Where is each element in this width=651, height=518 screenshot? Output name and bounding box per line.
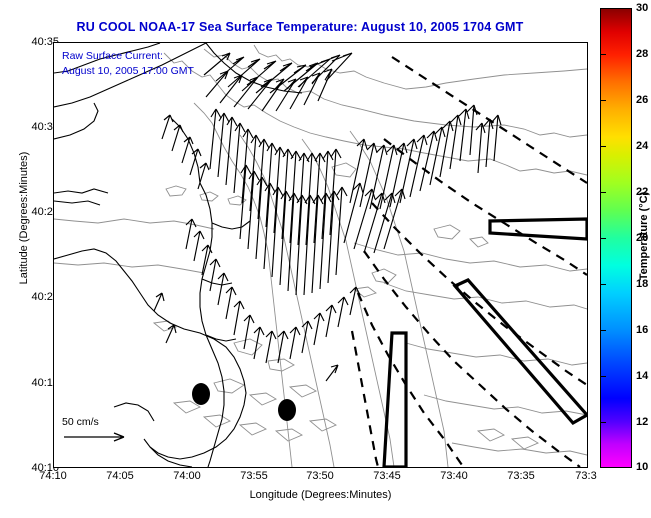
xtick-label: 73:55 — [240, 470, 268, 482]
xtick-label: 73:3 — [575, 470, 596, 482]
y-axis-label: Latitude (Degrees:Minutes) — [18, 108, 30, 328]
station-marker — [192, 383, 210, 405]
scale-bar: 50 cm/s — [62, 416, 132, 449]
colorbar-tick — [600, 422, 606, 423]
annotation-line-1: Raw Surface Current: — [62, 49, 194, 64]
colorbar-tick — [600, 330, 606, 331]
colorbar-label: Temperature (°C) — [638, 166, 650, 306]
colorbar-tick-label: 16 — [636, 324, 648, 336]
xtick-label: 73:50 — [306, 470, 334, 482]
xtick-label: 73:40 — [440, 470, 468, 482]
xtick-label: 74:00 — [173, 470, 201, 482]
colorbar-tick-label: 24 — [636, 140, 648, 152]
map-plot-area[interactable]: Raw Surface Current: August 10, 2005 17:… — [53, 42, 588, 468]
colorbar-tick-label: 28 — [636, 48, 648, 60]
scale-bar-arrow-icon — [62, 430, 132, 444]
station-marker — [278, 399, 296, 421]
colorbar-tick — [600, 376, 606, 377]
sst-figure: RU COOL NOAA-17 Sea Surface Temperature:… — [0, 0, 651, 518]
colorbar-tick — [600, 146, 606, 147]
colorbar-tick — [600, 192, 606, 193]
colorbar-tick-label: 30 — [636, 2, 648, 14]
sst-contours — [54, 45, 587, 467]
colorbar-tick-label: 26 — [636, 94, 648, 106]
colorbar-tick — [600, 284, 606, 285]
colorbar-tick-label: 12 — [636, 416, 648, 428]
colorbar-tick — [600, 238, 606, 239]
xtick-label: 74:10 — [39, 470, 67, 482]
map-graphics — [54, 43, 587, 467]
current-vectors — [154, 53, 501, 381]
colorbar-tick — [600, 8, 606, 9]
annotation-line-2: August 10, 2005 17:00 GMT — [62, 64, 194, 79]
xtick-label: 73:45 — [373, 470, 401, 482]
current-annotation: Raw Surface Current: August 10, 2005 17:… — [62, 49, 194, 79]
xtick-label: 74:05 — [106, 470, 134, 482]
colorbar-tick — [600, 100, 606, 101]
colorbar-tick — [600, 54, 606, 55]
xtick-label: 73:35 — [507, 470, 535, 482]
colorbar-tick-label: 10 — [636, 461, 648, 473]
colorbar-tick — [600, 467, 606, 468]
colorbar-tick-label: 14 — [636, 370, 648, 382]
figure-title: RU COOL NOAA-17 Sea Surface Temperature:… — [0, 20, 600, 34]
scale-bar-label: 50 cm/s — [62, 416, 132, 428]
x-axis-label: Longitude (Degrees:Minutes) — [53, 489, 588, 501]
